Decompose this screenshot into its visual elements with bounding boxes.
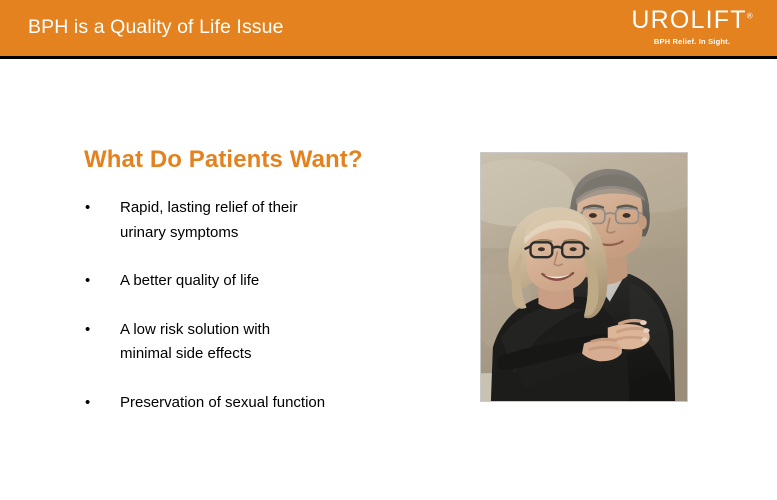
bullet-list: • Rapid, lasting relief of their urinary… — [80, 196, 450, 415]
slide: BPH is a Quality of Life Issue UROLIFT® … — [0, 0, 777, 500]
header-divider — [0, 56, 777, 59]
slide-title: BPH is a Quality of Life Issue — [28, 16, 284, 39]
list-item: • Preservation of sexual function — [80, 391, 450, 416]
urolift-logo: UROLIFT® BPH Relief. In Sight. — [621, 8, 763, 46]
list-item: • A low risk solution with minimal side … — [80, 318, 450, 367]
couple-photo-illustration — [481, 153, 687, 401]
list-item: • Rapid, lasting relief of their urinary… — [80, 196, 450, 245]
logo-wordmark-text: UROLIFT — [631, 6, 746, 34]
list-item-label: A low risk solution with minimal side ef… — [120, 318, 450, 367]
body-heading: What Do Patients Want? — [84, 146, 363, 174]
logo-tagline: BPH Relief. In Sight. — [621, 38, 763, 46]
bullet-marker-icon: • — [85, 391, 90, 416]
bullet-marker-icon: • — [85, 318, 90, 343]
list-item-label: A better quality of life — [120, 269, 450, 294]
couple-photo — [480, 152, 688, 402]
logo-wordmark: UROLIFT® — [631, 8, 752, 33]
list-item: • A better quality of life — [80, 269, 450, 294]
list-item-label: Preservation of sexual function — [120, 391, 450, 416]
slide-header-band: BPH is a Quality of Life Issue UROLIFT® … — [0, 0, 777, 56]
bullet-marker-icon: • — [85, 269, 90, 294]
list-item-label: Rapid, lasting relief of their urinary s… — [120, 196, 450, 245]
registered-trademark-icon: ® — [747, 12, 753, 21]
bullet-marker-icon: • — [85, 196, 90, 221]
